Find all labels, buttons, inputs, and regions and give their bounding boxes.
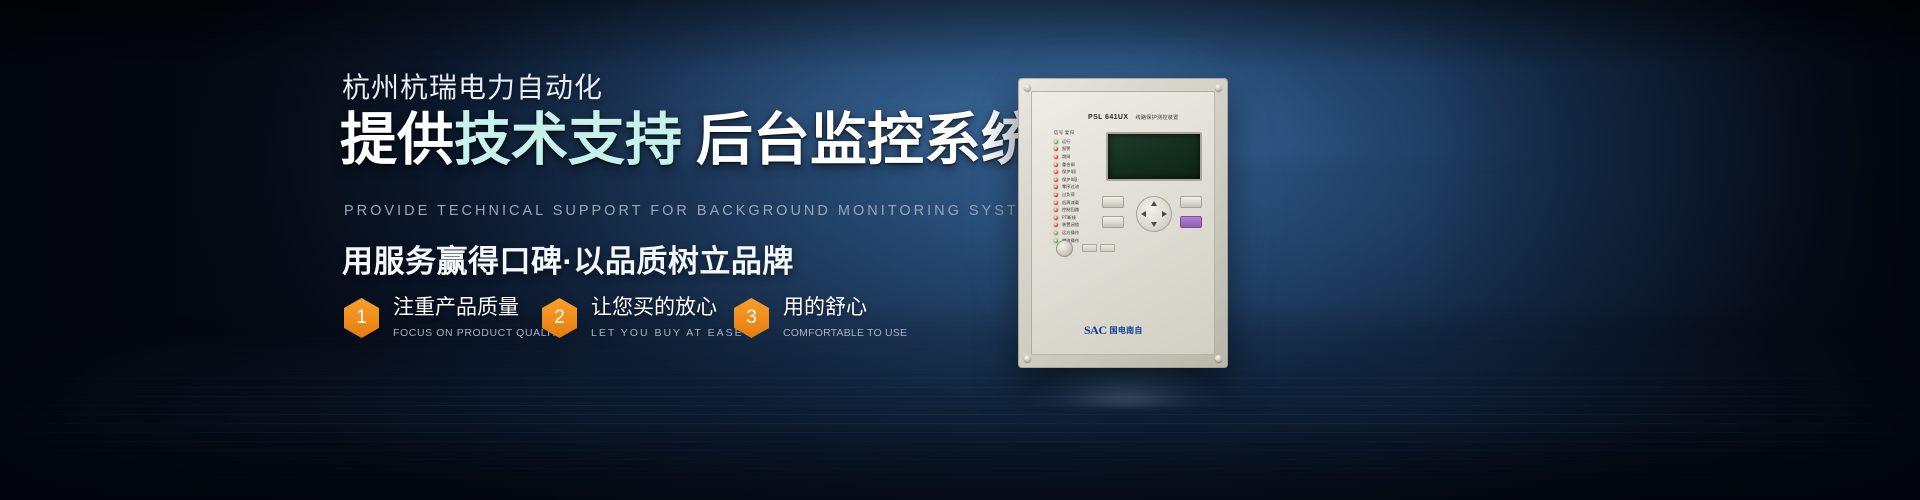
screw-icon [1024,355,1031,362]
led-label: 过负荷 [1062,192,1075,198]
led-indicator-icon [1054,201,1058,205]
led-row: 跳闸 [1054,153,1100,161]
device-led-panel: 信号 复归 运行 报警 跳闸 重合闸 保护I段 保护II段 零序过流 过负荷 低… [1054,130,1100,244]
hexagon-badge-1: 1 [344,298,379,338]
led-row: 重合闸 [1054,161,1100,169]
banner-text-block: 杭州杭瑞电力自动化 提供技术支持后台监控系统调试 PROVIDE TECHNIC… [342,0,1062,500]
led-indicator-icon [1054,163,1058,167]
led-indicator-icon [1054,208,1058,212]
headline-part-1: 提供 [340,108,454,172]
screw-icon [1215,355,1222,362]
led-indicator-icon [1054,223,1058,227]
feature-subtitle-1: FOCUS ON PRODUCT QUALITY [393,327,565,339]
feature-title-2: 让您买的放心 [591,296,744,320]
device-model-subtext: 线路保护测控装置 [1135,115,1178,121]
led-label: 重合闸 [1062,162,1075,168]
led-row: 运行 [1054,138,1100,146]
hexagon-badge-2: 2 [542,298,577,338]
led-row: 保护I段 [1054,168,1100,176]
screw-icon [1024,84,1031,91]
led-indicator-icon [1054,147,1058,151]
company-name: 杭州杭瑞电力自动化 [342,66,603,106]
led-row: 报警 [1054,146,1100,154]
led-label: 保护II段 [1062,177,1078,183]
led-label: 控制回路 [1062,207,1079,213]
feature-text-1: 注重产品质量 FOCUS ON PRODUCT QUALITY [393,296,565,339]
arrow-down-icon [1151,222,1157,227]
led-label: 低周减载 [1062,200,1079,206]
led-indicator-icon [1054,216,1058,220]
led-indicator-icon [1054,155,1058,159]
feature-number-2: 2 [554,308,565,327]
slogan: 用服务赢得口碑·以品质树立品牌 [342,236,794,281]
feature-text-2: 让您买的放心 LET YOU BUY AT EASE [591,296,744,339]
led-label: 远方操作 [1062,230,1079,236]
feature-title-3: 用的舒心 [783,296,907,320]
device-button-confirm [1102,196,1124,208]
led-indicator-icon [1054,170,1058,174]
device-mini-button [1082,244,1097,252]
feature-item-3: 3 用的舒心 COMFORTABLE TO USE [734,296,907,339]
led-row: 控制回路 [1054,206,1100,214]
device-model-text: PSL 641UX [1088,114,1128,121]
led-label: 零序过流 [1062,184,1079,190]
led-label: 跳闸 [1062,154,1071,160]
led-row: 低周减载 [1054,199,1100,207]
feature-subtitle-2: LET YOU BUY AT EASE [591,327,744,339]
led-label: 报警 [1062,146,1071,152]
device-reflection [1030,368,1220,406]
led-row: 保护II段 [1054,176,1100,184]
direction-pad-icon [1136,196,1172,232]
led-indicator-icon [1054,140,1058,144]
hero-banner: 杭州杭瑞电力自动化 提供技术支持后台监控系统调试 PROVIDE TECHNIC… [0,0,1920,500]
product-device: PSL 641UX线路保护测控装置 信号 复归 运行 报警 跳闸 重合闸 保护I… [1018,78,1228,368]
device-mini-button [1100,244,1115,252]
device-button-cancel [1102,216,1124,228]
feature-subtitle-3: COMFORTABLE TO USE [783,327,907,339]
feature-text-3: 用的舒心 COMFORTABLE TO USE [783,296,907,339]
led-row: 过负荷 [1054,191,1100,199]
device-button-quit [1180,196,1202,208]
led-row: PT断线 [1054,214,1100,222]
device-lcd-screen [1106,132,1202,181]
arrow-right-icon [1162,211,1167,217]
hexagon-badge-3: 3 [734,298,769,338]
led-indicator-icon [1054,193,1058,197]
arrow-up-icon [1151,201,1157,206]
screw-icon [1215,84,1222,91]
brand-name-cn: 国电南自 [1110,325,1143,336]
arrow-left-icon [1141,211,1146,217]
feature-title-1: 注重产品质量 [393,296,565,320]
led-panel-title: 信号 复归 [1054,130,1100,136]
device-faceplate: PSL 641UX线路保护测控装置 信号 复归 运行 报警 跳闸 重合闸 保护I… [1031,91,1215,355]
headline-accent: 技术支持 [454,108,682,172]
led-indicator-icon [1054,178,1058,182]
led-row: 零序过流 [1054,184,1100,192]
led-label: 保护I段 [1062,169,1076,175]
device-button-reset [1180,216,1202,228]
device-reset-knob-icon [1056,240,1073,257]
led-label: 装置闭锁 [1062,222,1079,228]
led-row: 远方操作 [1054,229,1100,237]
led-label: 运行 [1062,139,1071,145]
feature-item-2: 2 让您买的放心 LET YOU BUY AT EASE [542,296,744,339]
led-indicator-icon [1054,185,1058,189]
feature-number-1: 1 [356,308,367,327]
feature-number-3: 3 [746,308,757,327]
device-brand: SAC 国电南自 [1084,323,1143,338]
led-indicator-icon [1054,231,1058,235]
brand-logo-text: SAC [1084,323,1107,338]
device-model-label: PSL 641UX线路保护测控装置 [1088,114,1179,121]
led-row: 装置闭锁 [1054,222,1100,230]
led-label: PT断线 [1062,215,1076,221]
feature-item-1: 1 注重产品质量 FOCUS ON PRODUCT QUALITY [344,296,565,339]
device-chassis: PSL 641UX线路保护测控装置 信号 复归 运行 报警 跳闸 重合闸 保护I… [1018,78,1228,368]
